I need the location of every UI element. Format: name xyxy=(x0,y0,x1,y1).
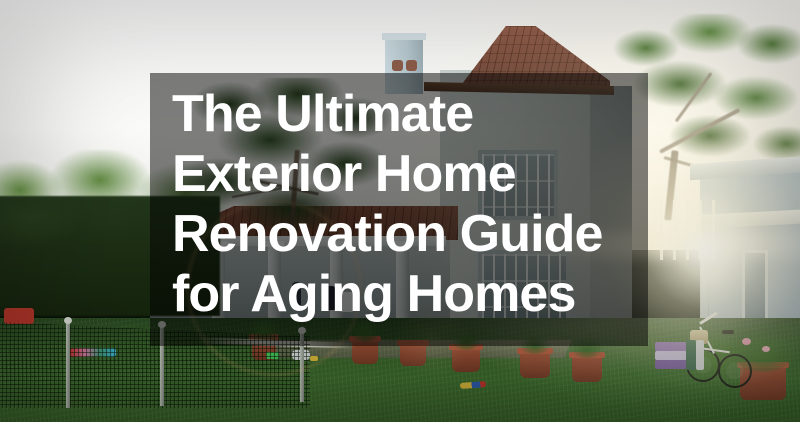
storage-crate xyxy=(655,351,687,360)
hero-banner: The Ultimate Exterior Home Renovation Gu… xyxy=(0,0,800,422)
neighbour-window xyxy=(742,250,768,322)
bicycle-seat xyxy=(722,330,734,334)
storage-crate xyxy=(655,342,687,351)
pink-flower xyxy=(742,338,751,345)
chimney-cap xyxy=(382,33,426,40)
bicycle-wheel xyxy=(718,354,752,388)
flower-pot xyxy=(572,356,602,382)
chimney-pot xyxy=(406,60,417,71)
toy-red-chair xyxy=(4,308,34,324)
chimney-pot xyxy=(392,60,403,71)
page-title: The Ultimate Exterior Home Renovation Gu… xyxy=(172,84,642,324)
flower-pot xyxy=(520,352,550,378)
storage-crate xyxy=(686,340,696,370)
storage-crate xyxy=(655,360,687,369)
pink-flower xyxy=(762,346,770,352)
storage-crate xyxy=(696,340,704,370)
fence-post xyxy=(66,322,70,408)
